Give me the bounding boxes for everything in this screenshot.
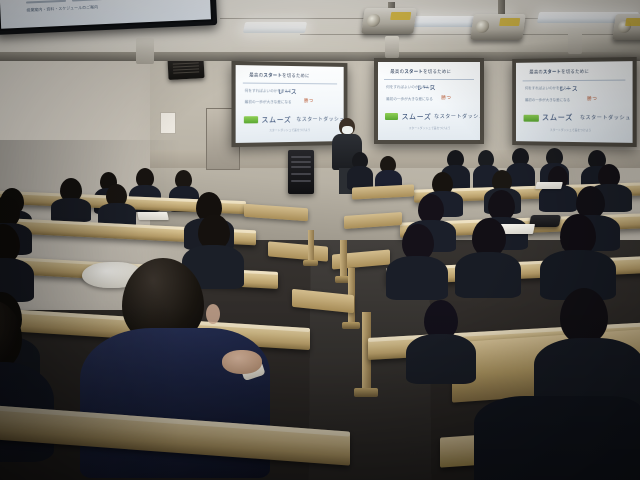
desk-leg-1 xyxy=(340,240,347,280)
slide-right-key-message: スムーズ xyxy=(542,112,573,123)
slide-right-keyword-2: 勝つ xyxy=(587,96,597,102)
wall-monitor-text: 授業案内・資料・スケジュールのご案内 xyxy=(26,4,98,13)
wall-monitor-screen: 授業案内・資料・スケジュールのご案内 xyxy=(0,0,211,29)
foreground-student-hands xyxy=(222,350,262,374)
slide-center-key-message-2: なスタートダッシュ xyxy=(434,113,480,120)
projection-screen-right: 最高のスタートを切るために 何をすればよいのかを考える レース 最初の一歩が大き… xyxy=(512,57,637,147)
projection-screen-left: 最高のスタートを切るために 何をすればよいのかを考える レース 最初の一歩が大き… xyxy=(231,61,347,147)
slide-center-key-message: スムーズ xyxy=(401,112,431,122)
slide-center-keyword-1: レース xyxy=(417,83,437,92)
slide-right-key-message-2: なスタートダッシュ xyxy=(580,114,631,121)
slide-center-body-2: 最初の一歩が大きな差になる xyxy=(386,97,433,102)
slide-center-keyword-2: 勝つ xyxy=(441,95,451,101)
slide-right-keyword-1: レース xyxy=(559,84,578,93)
projection-screen-center-surface: 最高のスタートを切るために 何をすればよいのかを考える レース 最初の一歩が大き… xyxy=(378,62,480,140)
lecture-hall-photo: 授業案内・資料・スケジュールのご案内 最高のスタートを切るために 何をすればよい… xyxy=(0,0,640,480)
desk-foot-2 xyxy=(342,322,360,329)
slide-left-title: 最高のスタートを切るために xyxy=(249,72,310,79)
desk-foot-4 xyxy=(303,260,318,266)
slide-center-accent-block xyxy=(385,113,398,120)
equipment-rack xyxy=(288,150,314,194)
ceiling-conduit-right xyxy=(568,28,582,54)
projection-screen-center: 最高のスタートを切るために 何をすればよいのかを考える レース 最初の一歩が大き… xyxy=(374,58,484,144)
slide-left-keyword-1: レース xyxy=(278,86,297,95)
slide-left-footnote: スタートダッシュで差をつけよう xyxy=(269,128,310,133)
ceiling-conduit-center xyxy=(385,36,399,58)
slide-left-keyword-2: 勝つ xyxy=(304,98,314,104)
projector-right xyxy=(612,14,640,40)
slide-right-accent-block xyxy=(524,115,539,122)
slide-right-title: 最高のスタートを切るために xyxy=(529,69,589,76)
light-fixture-3 xyxy=(243,22,307,33)
face-mask-icon xyxy=(342,126,353,134)
slide-center-footnote: スタートダッシュで差をつけよう xyxy=(409,126,451,130)
slide-left-body-2: 最初の一歩が大きな差になる xyxy=(245,100,292,105)
slide-left-accent-block xyxy=(244,116,259,123)
foreground-student-ear xyxy=(206,304,220,324)
wall-sign xyxy=(160,112,176,134)
desk-foot-3 xyxy=(354,388,378,397)
slide-left-key-message-2: なスタートダッシュ xyxy=(296,116,343,123)
projector-center xyxy=(470,14,526,40)
slide-center-title: 最高のスタートを切るために xyxy=(390,69,451,75)
handout-paper-left xyxy=(137,212,169,220)
handout-paper-right-far xyxy=(535,182,563,189)
slide-right-footnote: スタートダッシュで差をつけよう xyxy=(550,127,591,131)
projection-screen-right-surface: 最高のスタートを切るために 何をすればよいのかを考える レース 最初の一歩が大き… xyxy=(516,61,633,143)
ceiling-conduit-left xyxy=(136,38,154,64)
projector-left xyxy=(361,8,417,34)
projection-screen-left-surface: 最高のスタートを切るために 何をすればよいのかを考える レース 最初の一歩が大き… xyxy=(236,65,344,143)
desk-leg-4 xyxy=(308,230,314,264)
slide-left-key-message: スムーズ xyxy=(261,115,291,125)
slide-right-body-2: 最初の一歩が大きな差になる xyxy=(525,98,570,103)
